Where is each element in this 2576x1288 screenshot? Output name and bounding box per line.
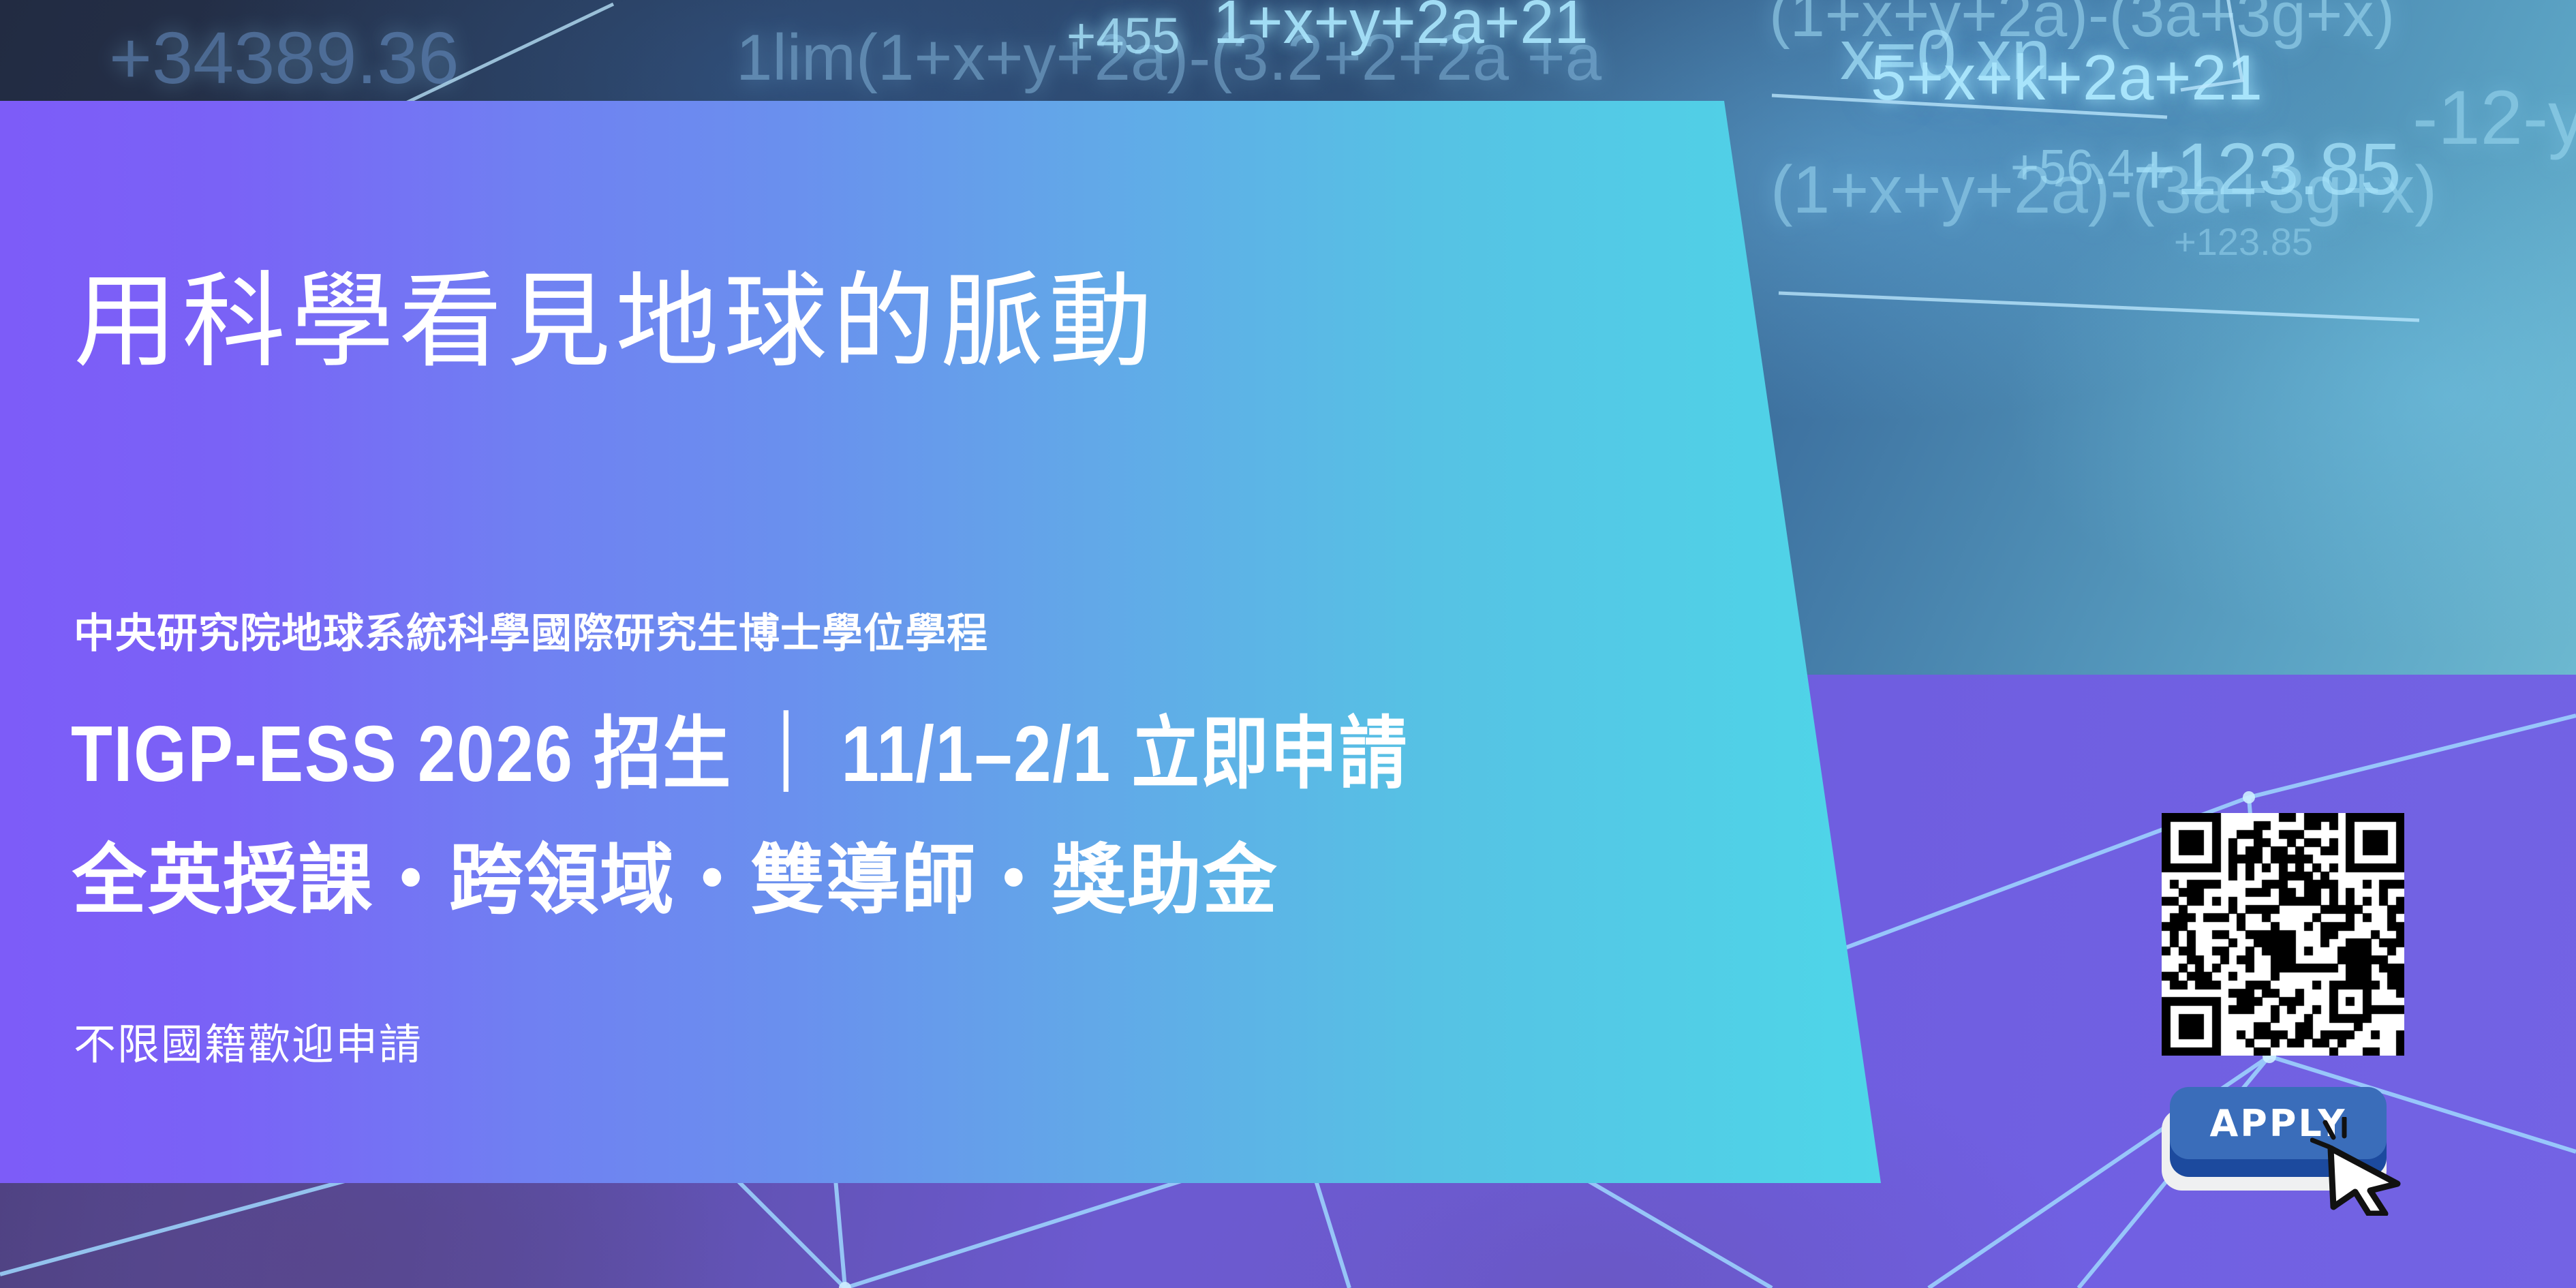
institution-label: 中央研究院地球系統科學國際研究生博士學位學程 bbox=[74, 613, 988, 654]
apply-button-group[interactable]: APPLY bbox=[2155, 1084, 2427, 1214]
page-title: 用科學看見地球的脈動 bbox=[74, 270, 1157, 373]
gradient-content-panel: 用科學看見地球的脈動 中央研究院地球系統科學國際研究生博士學位學程 TIGP-E… bbox=[0, 101, 1881, 1183]
features-headline: 全英授課・跨領域・雙導師・獎助金 bbox=[72, 842, 1278, 919]
program-headline: TIGP-ESS 2026 招生 ｜ 11/1–2/1 立即申請 bbox=[71, 714, 1408, 793]
qr-code[interactable] bbox=[2162, 813, 2404, 1056]
cursor-arrow-icon bbox=[2310, 1117, 2419, 1216]
qr-code-canvas[interactable] bbox=[2162, 813, 2404, 1056]
eligibility-note: 不限國籍歡迎申請 bbox=[74, 1024, 423, 1067]
